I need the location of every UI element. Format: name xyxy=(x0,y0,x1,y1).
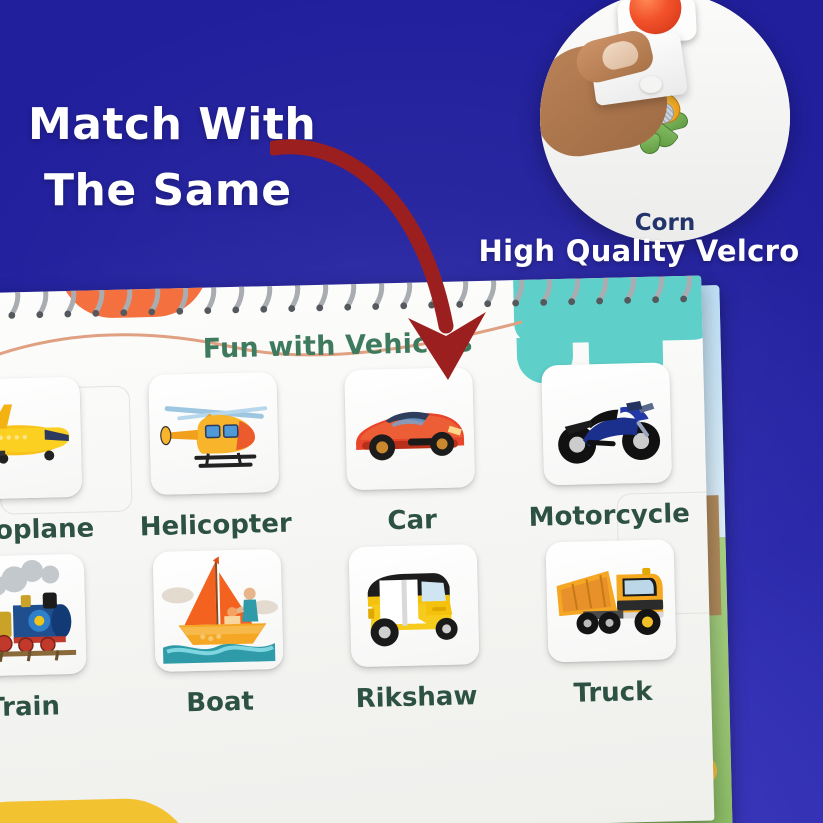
vehicle-cell-helicopter: Helicopter xyxy=(132,372,296,543)
vehicle-label: Train xyxy=(0,690,104,724)
velcro-dot-icon xyxy=(640,76,662,93)
helicopter-icon xyxy=(148,372,279,495)
vehicle-cell-boat: Boat xyxy=(136,549,300,720)
yellow-blob-decor xyxy=(0,797,195,823)
vehicle-label: Truck xyxy=(533,676,694,710)
boat-icon xyxy=(152,549,283,672)
vehicle-card[interactable] xyxy=(0,554,87,677)
truck-icon xyxy=(545,539,676,662)
inset-item-label: Corn xyxy=(540,210,790,236)
vehicle-card[interactable] xyxy=(152,549,283,672)
rikshaw-icon xyxy=(349,544,480,667)
train-icon xyxy=(0,554,87,677)
promo-image: Match With The Same Corn Hi xyxy=(0,0,823,823)
vehicle-cell-motorcycle: Motorcycle xyxy=(525,362,689,533)
vehicle-label: Boat xyxy=(140,685,301,719)
vehicle-cell-car: Car xyxy=(329,367,493,538)
vehicle-cell-truck: Truck xyxy=(529,539,693,710)
velcro-demo-inset: Corn xyxy=(540,0,790,242)
inset-circle-photo: Corn xyxy=(540,0,790,242)
vehicle-cell-rikshaw: Rikshaw xyxy=(333,544,497,715)
vehicle-cell-train: Train xyxy=(0,553,104,724)
vehicle-label: Helicopter xyxy=(135,509,296,543)
vehicle-label: Rikshaw xyxy=(336,681,497,715)
motorcycle-icon xyxy=(541,362,672,485)
vehicle-label: Car xyxy=(332,504,493,538)
vehicle-card[interactable] xyxy=(0,377,83,500)
vehicle-card[interactable] xyxy=(545,539,676,662)
vehicle-label: Motorcycle xyxy=(528,499,689,533)
vehicle-row: Train xyxy=(0,538,712,723)
vehicle-grid: Aeroplane xyxy=(0,362,712,734)
aeroplane-icon xyxy=(0,377,83,500)
vehicle-card[interactable] xyxy=(349,544,480,667)
pointing-arrow-icon xyxy=(270,130,520,390)
vehicle-cell-aeroplane: Aeroplane xyxy=(0,376,100,547)
vehicle-card[interactable] xyxy=(148,372,279,495)
vehicle-label: Aeroplane xyxy=(0,513,100,547)
vehicle-card[interactable] xyxy=(541,362,672,485)
